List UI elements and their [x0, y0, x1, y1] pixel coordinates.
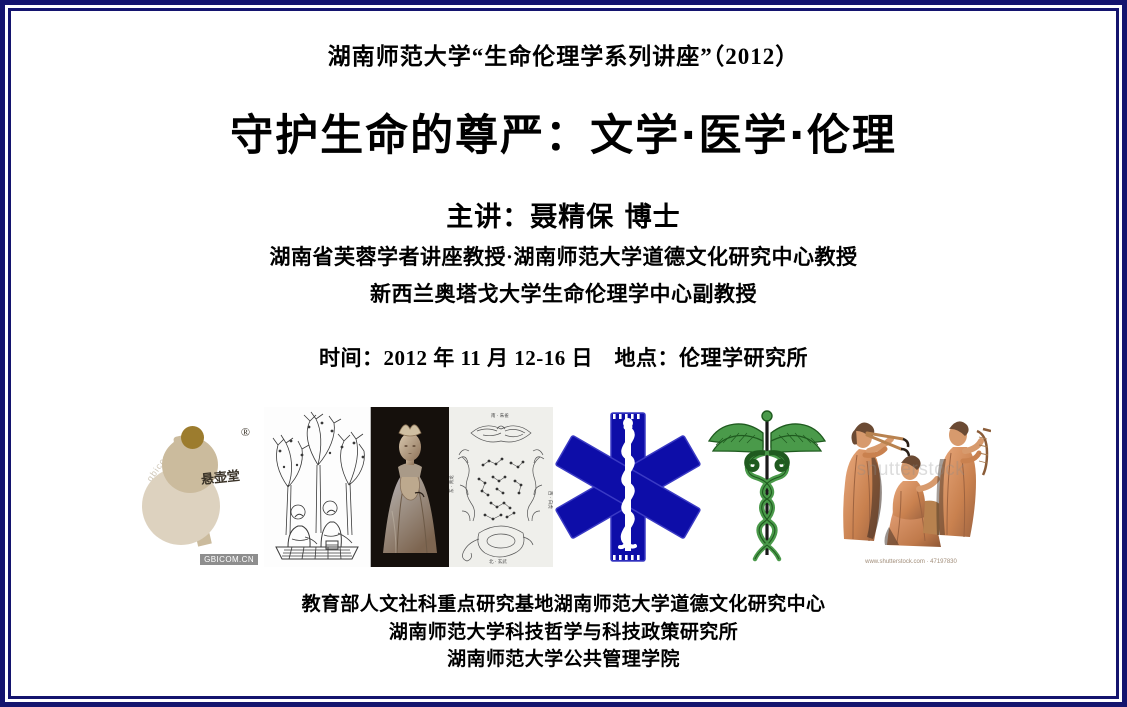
- shutterstock-credit: www.shutterstock.com · 47197830: [865, 559, 957, 565]
- star-of-life-icon: [553, 407, 703, 567]
- speaker-affiliation-1: 湖南省芙蓉学者讲座教授·湖南师范大学道德文化研究中心教授: [269, 241, 857, 271]
- xuanhutang-logo: gbicom.cn ® 悬壶堂 GBICOM.CN: [136, 407, 264, 567]
- organizer-line-3: 湖南师范大学公共管理学院: [302, 646, 826, 674]
- caduceus-emblem: [703, 407, 831, 567]
- registered-trademark-icon: ®: [241, 425, 250, 440]
- organizer-line-1: 教育部人文社科重点研究基地湖南师范大学道德文化研究中心: [302, 591, 826, 619]
- speaker-name: 主讲：聂精保 博士: [269, 195, 857, 234]
- star-of-life-emblem: [553, 407, 703, 567]
- star-chart-diagram: 南 · 朱雀 北 · 玄武 东 · 青龙 西 · 白虎: [449, 407, 553, 567]
- muses-image: [831, 407, 991, 567]
- xuanhutang-characters: 悬壶堂: [200, 467, 241, 489]
- starchart-label-bottom: 北 · 玄武: [489, 558, 507, 565]
- time-and-venue: 时间：2012 年 11 月 12-16 日 地点：伦理学研究所: [319, 342, 808, 372]
- caduceus-icon: [703, 407, 831, 567]
- apricot-grove-woodcut: [264, 407, 371, 567]
- page-title: 守护生命的尊严：文学·医学·伦理: [230, 101, 897, 163]
- shutterstock-watermark: shutterstock: [857, 459, 965, 481]
- starchart-label-top: 南 · 朱雀: [491, 412, 509, 419]
- organizer-line-2: 湖南师范大学科技哲学与科技政策研究所: [302, 619, 826, 647]
- series-eyebrow: 湖南师范大学“生命伦理学系列讲座”（2012）: [328, 37, 800, 71]
- gbicom-badge: GBICOM.CN: [200, 554, 258, 565]
- figurine-image: [371, 407, 449, 567]
- greek-muses-illustration: shutterstock www.shutterstock.com · 4719…: [831, 407, 991, 567]
- ancient-star-chart: 南 · 朱雀 北 · 玄武 东 · 青龙 西 · 白虎: [449, 407, 553, 567]
- speaker-affiliation-2: 新西兰奥塔戈大学生命伦理学中心副教授: [269, 278, 857, 308]
- poster-inner-frame: 湖南师范大学“生命伦理学系列讲座”（2012） 守护生命的尊严：文学·医学·伦理…: [8, 8, 1119, 699]
- starchart-label-left: 东 · 青龙: [449, 475, 455, 493]
- gourd-cap-shape: [181, 426, 204, 449]
- image-strip: gbicom.cn ® 悬壶堂 GBICOM.CN: [136, 402, 991, 567]
- lecture-poster: 湖南师范大学“生命伦理学系列讲座”（2012） 守护生命的尊严：文学·医学·伦理…: [0, 0, 1127, 707]
- speaker-block: 主讲：聂精保 博士 湖南省芙蓉学者讲座教授·湖南师范大学道德文化研究中心教授 新…: [269, 195, 857, 308]
- tang-figurine-photo: [371, 407, 449, 567]
- woodcut-drawing: [264, 407, 369, 567]
- organizers-footer: 教育部人文社科重点研究基地湖南师范大学道德文化研究中心 湖南师范大学科技哲学与科…: [302, 591, 826, 674]
